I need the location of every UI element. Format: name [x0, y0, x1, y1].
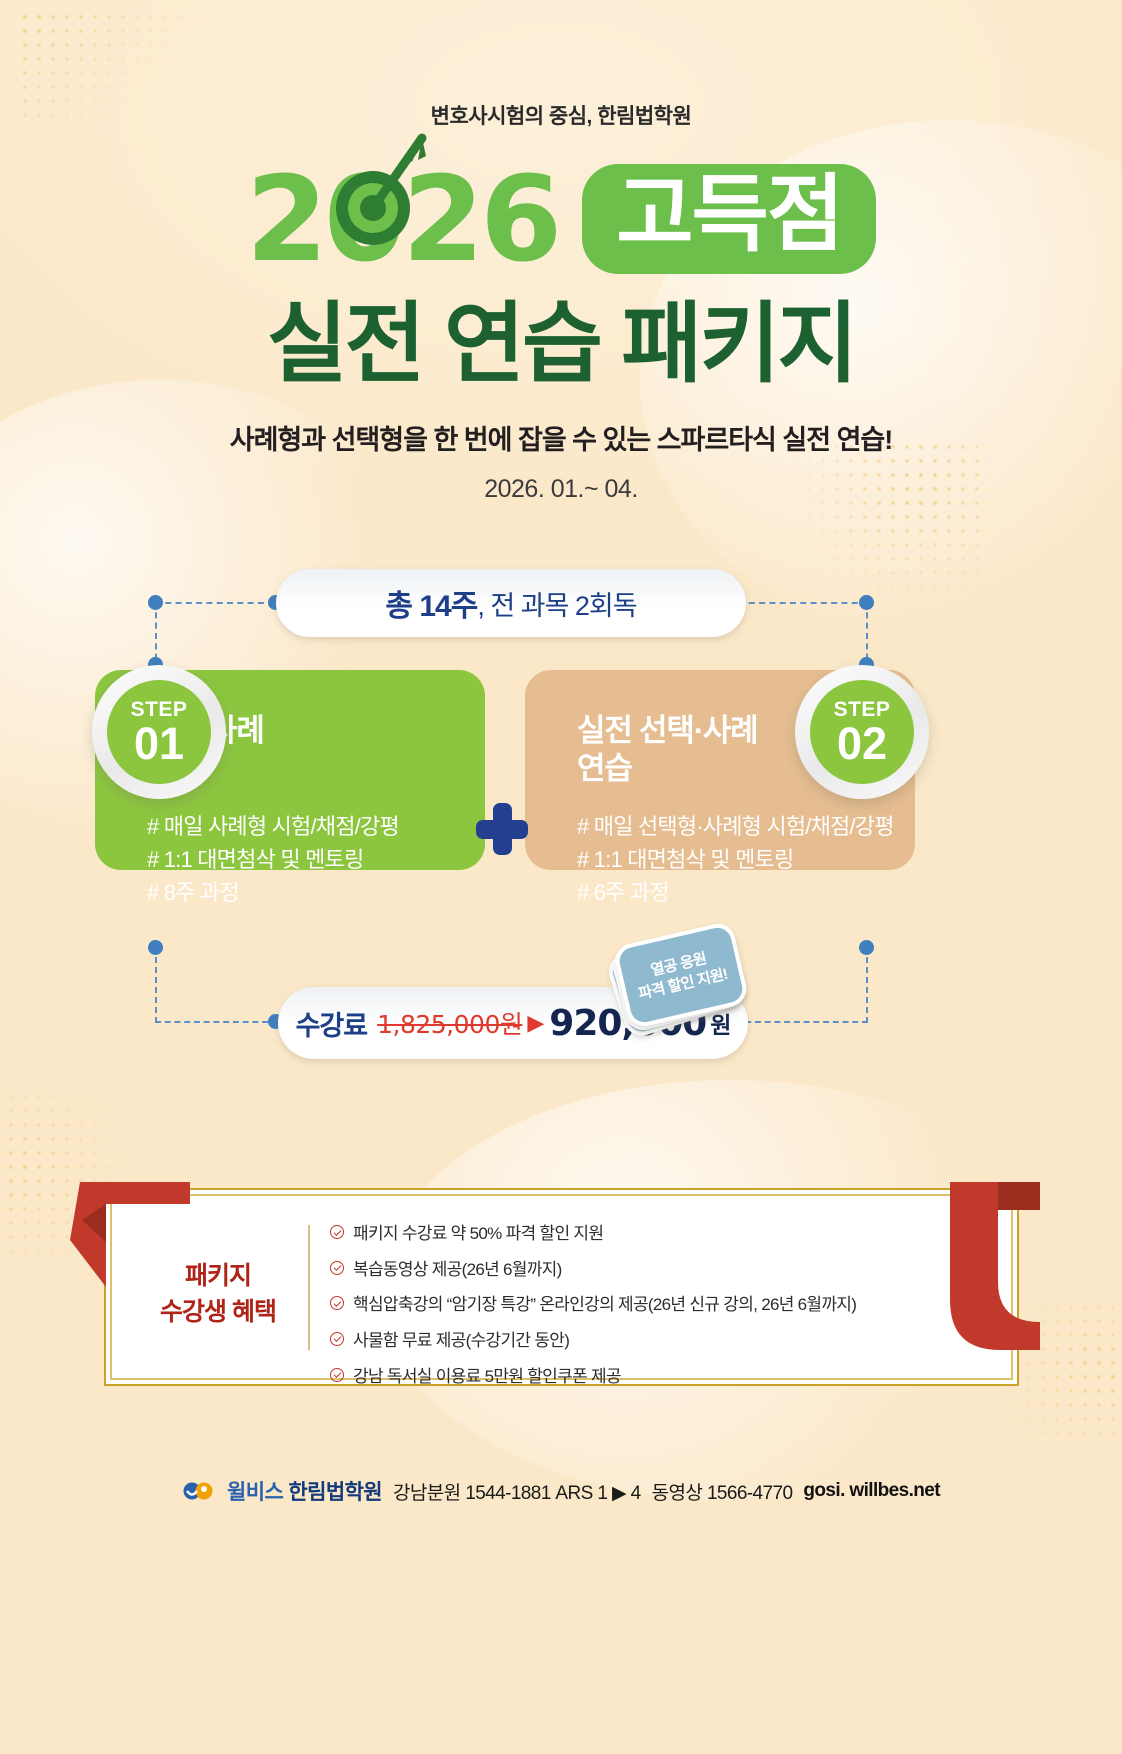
year-2026: 2026	[246, 160, 558, 278]
list-item: # 8주 과정	[147, 876, 485, 909]
benefit-text: 패키지 수강료 약 50% 파격 할인 지원	[353, 1222, 603, 1247]
connector-bottom-left-v	[155, 947, 157, 1023]
connector-dot-bl	[148, 940, 163, 955]
check-icon	[330, 1296, 344, 1310]
page-subtitle: 사례형과 선택형을 한 번에 잡을 수 있는 스파르타식 실전 연습!	[0, 418, 1122, 457]
benefits-title: 패키지수강생 혜택	[128, 1258, 308, 1331]
willbes-logo-icon	[182, 1478, 216, 1504]
step-01-word: STEP	[131, 699, 188, 720]
connector-dot-br	[859, 940, 874, 955]
title-row-primary: 2026 고득점	[0, 160, 1122, 278]
course-flow-diagram: 총 14주, 전 과목 2회독 실전 사례연습 # 매일 사례형 시험/채점/강…	[0, 555, 1122, 1075]
step-01-number: 01	[134, 721, 184, 766]
footer-contact-bar: 윌비스 한림법학원 강남분원 1544-1881 ARS 1 ▶ 4 동영상 1…	[0, 1476, 1122, 1506]
step-02-medal-inner: STEP 02	[810, 680, 914, 784]
footer-branch-contact: 강남분원 1544-1881 ARS 1 ▶ 4	[393, 1478, 641, 1505]
footer-video-contact: 동영상 1566-4770	[652, 1478, 793, 1505]
step-01-list: # 매일 사례형 시험/채점/강평 # 1:1 대면첨삭 및 멘토링 # 8주 …	[147, 810, 485, 909]
benefit-text: 강남 독서실 이용료 5만원 할인쿠폰 제공	[353, 1365, 621, 1390]
footer-brand: 윌비스 한림법학원	[227, 1476, 382, 1506]
page-kicker: 변호사시험의 중심, 한림법학원	[0, 100, 1122, 130]
duration-banner: 총 14주, 전 과목 2회독	[276, 569, 746, 637]
list-item: # 1:1 대면첨삭 및 멘토링	[147, 843, 485, 876]
benefits-divider	[308, 1225, 310, 1350]
benefit-text: 복습동영상 제공(26년 6월까지)	[353, 1258, 562, 1283]
page-title: 실전 연습 패키지	[0, 298, 1122, 390]
list-item: 복습동영상 제공(26년 6월까지)	[330, 1258, 950, 1283]
check-icon	[330, 1225, 344, 1239]
price-original: 1,825,000원	[377, 1005, 522, 1041]
list-item: # 1:1 대면첨삭 및 멘토링	[577, 843, 915, 876]
step-01-medal: STEP 01	[92, 665, 226, 799]
price-arrow-icon: ▶	[527, 1011, 544, 1036]
connector-dot-tl	[148, 595, 163, 610]
benefits-list: 패키지 수강료 약 50% 파격 할인 지원 복습동영상 제공(26년 6월까지…	[330, 1222, 950, 1400]
check-icon	[330, 1332, 344, 1346]
duration-weeks: 총 14주	[385, 581, 477, 625]
list-item: 핵심압축강의 “암기장 특강” 온라인강의 제공(26년 신규 강의, 26년 …	[330, 1293, 950, 1318]
list-item: # 매일 사례형 시험/채점/강평	[147, 810, 485, 843]
step-02-number: 02	[837, 721, 887, 766]
check-icon	[330, 1261, 344, 1275]
footer-brand-will: 윌비스	[227, 1481, 283, 1504]
step-02-list: # 매일 선택형·사례형 시험/채점/강평 # 1:1 대면첨삭 및 멘토링 #…	[577, 810, 915, 909]
footer-brand-name: 한림법학원	[288, 1481, 382, 1504]
price-label: 수강료	[296, 1004, 368, 1043]
list-item: 강남 독서실 이용료 5만원 할인쿠폰 제공	[330, 1365, 950, 1390]
footer-website: gosi. willbes.net	[803, 1480, 940, 1502]
date-range: 2026. 01.~ 04.	[0, 475, 1122, 504]
highscore-badge: 고득점	[582, 164, 876, 274]
connector-dot-tr	[859, 595, 874, 610]
target-arrow-icon	[326, 124, 436, 250]
benefit-text: 핵심압축강의 “암기장 특강” 온라인강의 제공(26년 신규 강의, 26년 …	[353, 1293, 856, 1318]
benefit-text: 사물함 무료 제공(수강기간 동안)	[353, 1329, 569, 1354]
connector-bottom-right-v	[866, 947, 868, 1023]
plus-icon	[476, 803, 528, 855]
step-02-word: STEP	[834, 699, 891, 720]
step-02-medal: STEP 02	[795, 665, 929, 799]
list-item: # 매일 선택형·사례형 시험/채점/강평	[577, 810, 915, 843]
list-item: # 6주 과정	[577, 876, 915, 909]
list-item: 사물함 무료 제공(수강기간 동안)	[330, 1329, 950, 1354]
check-icon	[330, 1368, 344, 1382]
step-01-medal-inner: STEP 01	[107, 680, 211, 784]
duration-rest: , 전 과목 2회독	[477, 584, 636, 623]
list-item: 패키지 수강료 약 50% 파격 할인 지원	[330, 1222, 950, 1247]
